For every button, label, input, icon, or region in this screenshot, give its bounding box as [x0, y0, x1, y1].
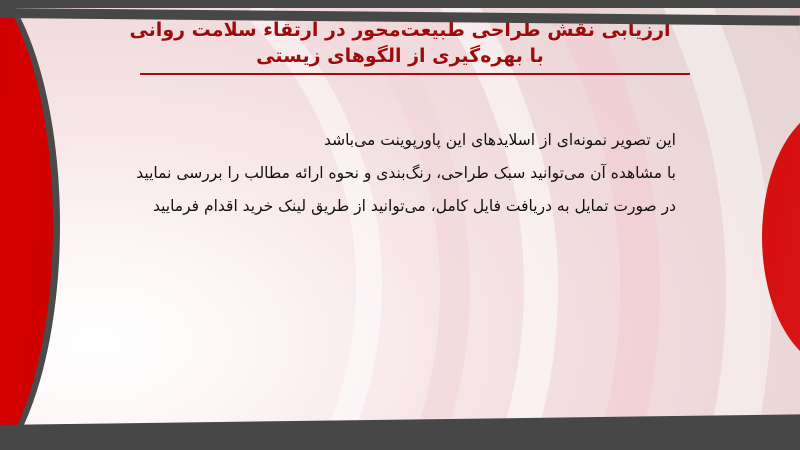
title-line-2: با بهره‌گیری از الگوهای زیستی: [0, 43, 800, 69]
body-line-1: این تصویر نمونه‌ای از اسلایدهای این پاور…: [116, 124, 676, 157]
presentation-slide: ارزیابی نقش طراحی طبیعت‌محور در ارتقاء س…: [0, 0, 800, 450]
body-line-3: در صورت تمایل به دریافت فایل کامل، می‌تو…: [116, 190, 676, 223]
left-red-lens-decoration: [0, 8, 60, 437]
slide-body-text: این تصویر نمونه‌ای از اسلایدهای این پاور…: [116, 124, 676, 223]
title-underline-rule: [140, 73, 690, 75]
left-lens-fill: [0, 8, 53, 437]
slide-title: ارزیابی نقش طراحی طبیعت‌محور در ارتقاء س…: [0, 17, 800, 69]
body-line-2: با مشاهده آن می‌توانید سبک طراحی، رنگ‌بن…: [116, 157, 676, 190]
slide-canvas: ارزیابی نقش طراحی طبیعت‌محور در ارتقاء س…: [0, 8, 800, 437]
